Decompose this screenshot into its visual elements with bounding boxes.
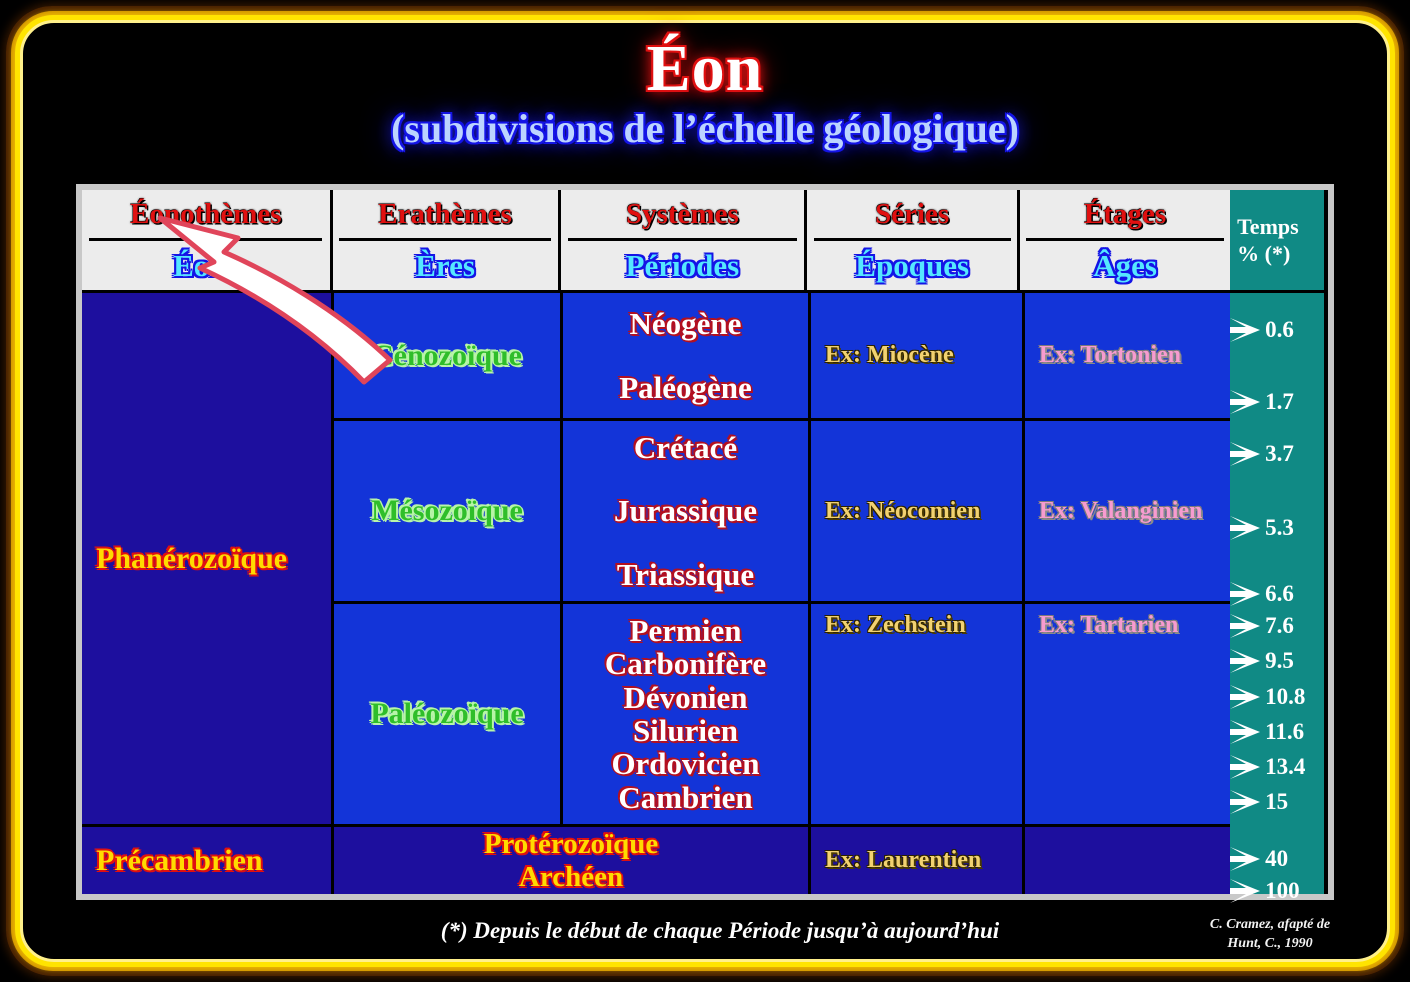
age-label: Ex: Tortonien [1039,342,1181,369]
tick-arrow-icon [1230,846,1262,872]
time-tick-value: 9.5 [1265,648,1294,674]
time-tick: 5.3 [1230,515,1294,541]
time-tick: 9.5 [1230,648,1294,674]
cell-periods-cenozoique[interactable]: NéogènePaléogène [563,293,808,418]
period-label: Dévonien [623,680,747,715]
cell-era-mesozoique[interactable]: Mésozoïque [334,421,560,601]
credit-block: C. Cramez, afapté de Hunt, C., 1990 [1170,916,1370,954]
cell-eon-precambrien[interactable]: Précambrien [82,827,331,894]
title-block: Éon (subdivisions de l’échelle géologiqu… [0,36,1410,150]
period-list: PermienCarbonifèreDévonienSilurienOrdovi… [605,614,766,815]
time-tick-value: 100 [1265,878,1300,904]
eon-label: Précambrien [96,844,263,878]
time-column-header: Temps % (*) [1230,190,1324,290]
column-header-bottom-label: Époques [807,241,1017,290]
tick-arrow-icon [1230,754,1262,780]
time-tick-value: 5.3 [1265,515,1294,541]
time-tick: 13.4 [1230,754,1305,780]
period-label: Permien [630,613,742,648]
era-label: Cénozoïque [372,339,522,373]
column-header-etages: Étages Âges [1020,190,1230,290]
table-inner: Éonothèmes Éons Erathèmes Ères Systèmes … [82,190,1328,894]
column-header-bottom-label: Ères [333,241,558,290]
table-header-row: Éonothèmes Éons Erathèmes Ères Systèmes … [82,190,1230,290]
tick-arrow-icon [1230,789,1262,815]
cell-age-mesozoique[interactable]: Ex: Valanginien [1025,421,1230,601]
age-label: Ex: Tartarien [1039,612,1178,639]
time-tick: 6.6 [1230,581,1294,607]
cell-era-cenozoique[interactable]: Cénozoïque [334,293,560,418]
column-header-top-label: Éonothèmes [82,190,330,238]
cell-periods-mesozoique[interactable]: CrétacéJurassiqueTriassique [563,421,808,601]
time-tick: 0.6 [1230,317,1294,343]
tick-arrow-icon [1230,389,1262,415]
tick-arrow-icon [1230,684,1262,710]
time-tick-value: 40 [1265,846,1288,872]
period-label: Néogène [630,306,742,341]
era-label: Paléozoïque [370,697,523,731]
column-header-eonothemes: Éonothèmes Éons [82,190,330,290]
time-tick-value: 7.6 [1265,613,1294,639]
period-list: CrétacéJurassiqueTriassique [614,421,757,601]
time-tick-value: 1.7 [1265,389,1294,415]
footnote: (*) Depuis le début de chaque Période ju… [390,918,1050,944]
time-tick: 10.8 [1230,684,1305,710]
column-header-top-label: Étages [1020,190,1230,238]
credit-line-2: Hunt, C., 1990 [1170,935,1370,954]
time-tick-value: 13.4 [1265,754,1305,780]
period-label: Protérozoïque [484,828,659,860]
epoch-label: Ex: Laurentien [825,847,981,874]
column-header-bottom-label: Âges [1020,241,1230,290]
time-tick-value: 10.8 [1265,684,1305,710]
column-header-top-label: Erathèmes [333,190,558,238]
column-header-bottom-label: Éons [82,241,330,290]
credit-line-1: C. Cramez, afapté de [1170,916,1370,935]
cell-epoch-cenozoique[interactable]: Ex: Miocène [811,293,1022,418]
cell-eon-phanerozoique[interactable]: Phanérozoïque [82,293,331,824]
period-label: Archéen [519,861,623,893]
period-list: NéogènePaléogène [619,293,752,418]
eon-label: Phanérozoïque [96,542,287,576]
time-tick: 40 [1230,846,1288,872]
page-subtitle: (subdivisions de l’échelle géologique) [0,108,1410,150]
cell-epoch-mesozoique[interactable]: Ex: Néocomien [811,421,1022,601]
time-tick: 100 [1230,878,1300,904]
time-tick: 15 [1230,789,1288,815]
time-header-line2: % (*) [1237,240,1290,268]
cell-epoch-precambrien[interactable]: Ex: Laurentien [811,827,1022,894]
cell-age-cenozoique[interactable]: Ex: Tortonien [1025,293,1230,418]
column-header-top-label: Séries [807,190,1017,238]
tick-arrow-icon [1230,878,1262,904]
column-header-systemes: Systèmes Périodes [561,190,805,290]
period-label: Crétacé [634,430,737,465]
time-tick-value: 3.7 [1265,441,1294,467]
tick-arrow-icon [1230,719,1262,745]
column-header-top-label: Systèmes [561,190,805,238]
tick-arrow-icon [1230,317,1262,343]
geologic-timescale-table: Éonothèmes Éons Erathèmes Ères Systèmes … [76,184,1334,900]
time-tick-value: 15 [1265,789,1288,815]
time-tick: 3.7 [1230,441,1294,467]
epoch-label: Ex: Néocomien [825,498,980,525]
time-tick: 11.6 [1230,719,1304,745]
time-header-line1: Temps [1237,213,1299,241]
epoch-label: Ex: Miocène [825,342,954,369]
period-label: Triassique [617,557,754,592]
cell-era-paleozoique[interactable]: Paléozoïque [334,604,560,824]
time-tick-value: 0.6 [1265,317,1294,343]
table-grid: Éonothèmes Éons Erathèmes Ères Systèmes … [82,190,1228,894]
time-scale-body: 0.61.73.75.36.67.69.510.811.613.41540100 [1230,293,1324,894]
column-header-bottom-label: Périodes [561,241,805,290]
cell-periods-paleozoique[interactable]: PermienCarbonifèreDévonienSilurienOrdovi… [563,604,808,824]
tick-arrow-icon [1230,441,1262,467]
time-tick: 7.6 [1230,613,1294,639]
period-label: Paléogène [619,370,752,405]
cell-age-paleozoique[interactable]: Ex: Tartarien [1025,604,1230,824]
period-label: Silurien [633,713,738,748]
era-label: Mésozoïque [371,494,523,528]
period-list: ProtérozoïqueArchéen [484,828,659,893]
tick-arrow-icon [1230,613,1262,639]
time-tick: 1.7 [1230,389,1294,415]
period-label: Jurassique [614,493,757,528]
cell-epoch-paleozoique[interactable]: Ex: Zechstein [811,604,1022,824]
period-label: Cambrien [618,780,752,815]
tick-arrow-icon [1230,648,1262,674]
cell-age-precambrien[interactable] [1025,827,1230,894]
column-header-series: Séries Époques [807,190,1017,290]
period-label: Carbonifère [605,646,766,681]
column-header-erathemes: Erathèmes Ères [333,190,558,290]
tick-arrow-icon [1230,515,1262,541]
age-label: Ex: Valanginien [1039,498,1202,525]
period-label: Ordovicien [611,746,759,781]
time-tick-value: 6.6 [1265,581,1294,607]
cell-periods-precambrien[interactable]: ProtérozoïqueArchéen [334,827,808,894]
time-percentage-column: Temps % (*) 0.61.73.75.36.67.69.510.811.… [1230,190,1328,894]
time-tick-value: 11.6 [1265,719,1304,745]
tick-arrow-icon [1230,581,1262,607]
epoch-label: Ex: Zechstein [825,612,966,639]
page-title: Éon [0,36,1410,102]
